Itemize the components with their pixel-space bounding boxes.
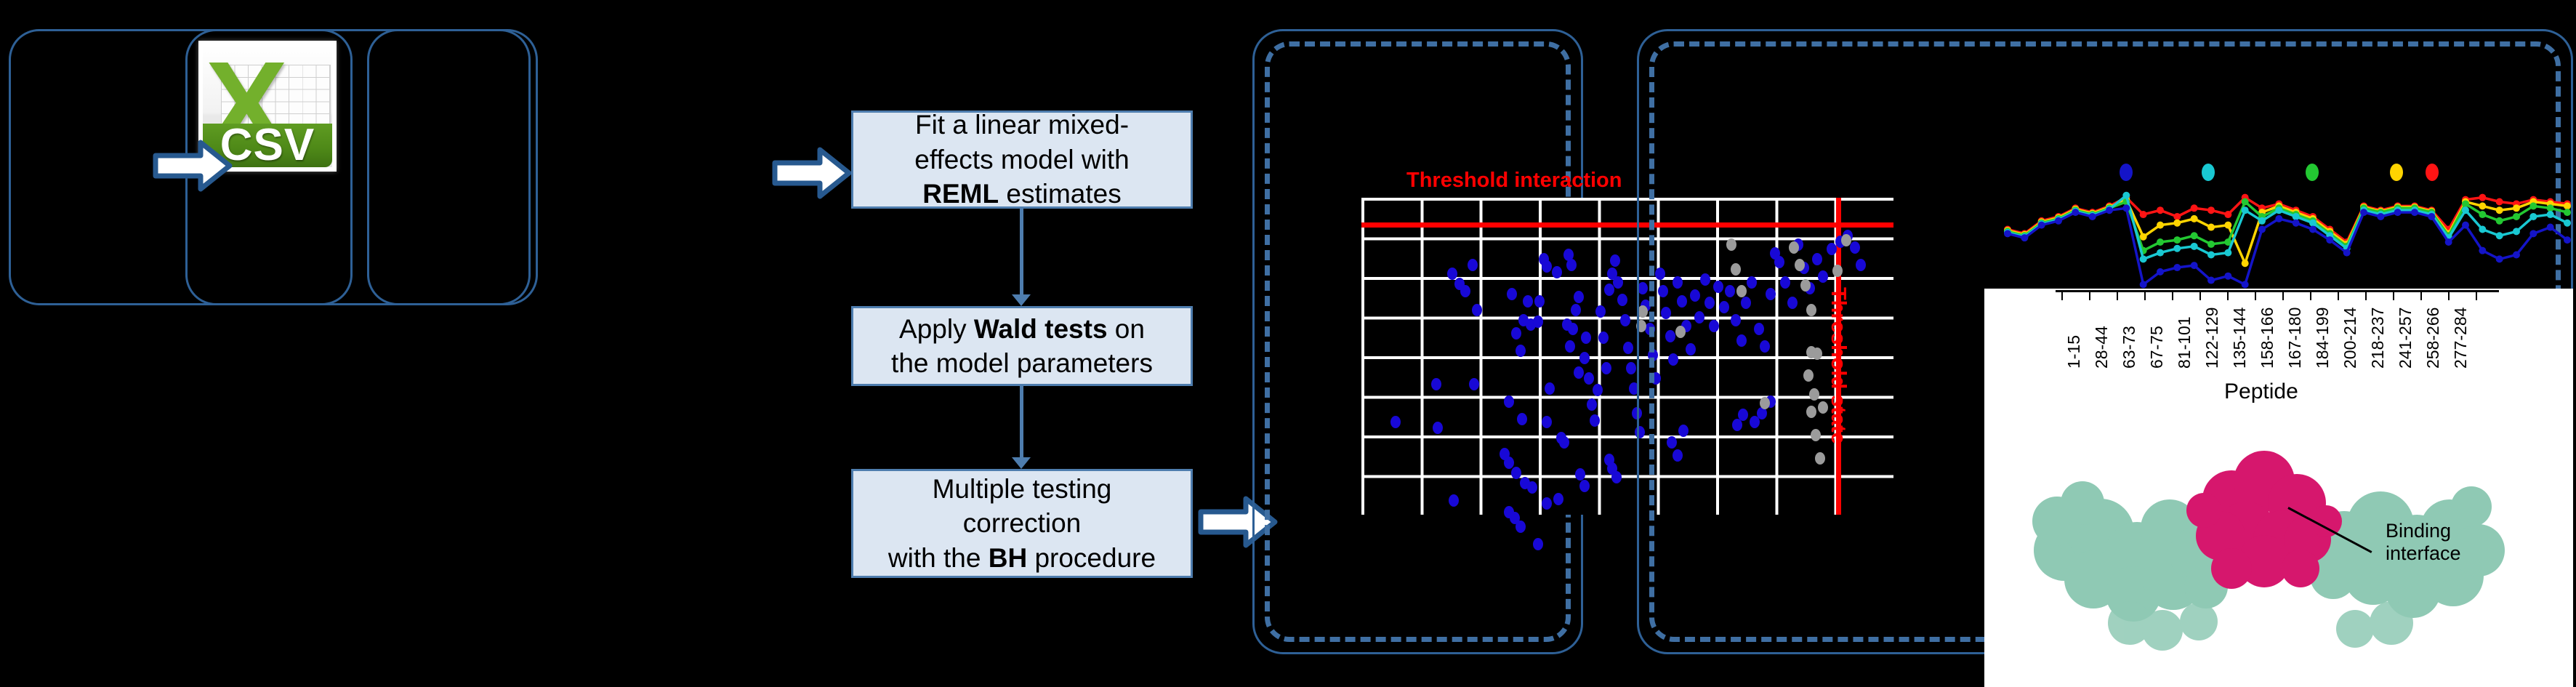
chart-point xyxy=(2224,249,2231,257)
chart-point xyxy=(2191,262,2198,269)
peptide-tick-label: 63-73 xyxy=(2120,326,2139,369)
chart-point xyxy=(2173,264,2181,271)
chart-point xyxy=(2309,225,2317,233)
excel-x-glyph: X xyxy=(206,47,265,123)
chart-point xyxy=(2275,215,2282,222)
chart-point xyxy=(2072,209,2079,216)
chart-point xyxy=(2496,232,2503,239)
chart-point xyxy=(2479,202,2486,209)
y-axis-tick-label: 0.0 xyxy=(2012,289,2038,292)
chart-point xyxy=(2140,211,2147,218)
chart-point xyxy=(2191,243,2198,250)
peptide-tick-label: 135-144 xyxy=(2230,308,2250,369)
chart-point xyxy=(2411,209,2418,216)
chart-point xyxy=(2242,260,2249,267)
arrow-right-1 xyxy=(153,138,233,193)
chart-point xyxy=(2479,247,2486,254)
chart-point xyxy=(2140,233,2147,241)
chart-point xyxy=(2479,211,2486,218)
chart-point xyxy=(2309,220,2317,227)
multiple-testing-box: Multiple testing correction with the BH … xyxy=(851,469,1193,578)
panel-statistics xyxy=(367,29,538,305)
chart-point xyxy=(2242,281,2249,288)
chart-point xyxy=(2513,252,2520,259)
chart-point xyxy=(2242,206,2249,214)
chart-point xyxy=(2207,206,2215,214)
chart-point xyxy=(2343,249,2351,257)
chart-point xyxy=(2564,236,2571,244)
chart-point xyxy=(2479,194,2486,201)
structure-figure: 0.0 1-1528-4463-7367-7581-101122-129135-… xyxy=(1984,289,2573,687)
fit-model-box-text: Fit a linear mixed- effects model with R… xyxy=(914,108,1129,211)
chart-point xyxy=(2564,202,2571,209)
chart-point xyxy=(2122,204,2130,212)
connector-line-1 xyxy=(1020,209,1023,294)
chart-point xyxy=(2224,211,2231,218)
chart-point xyxy=(2564,220,2571,227)
chart-point xyxy=(2326,236,2333,244)
peptide-tick-label: 167-180 xyxy=(2285,308,2305,369)
chart-point xyxy=(2055,217,2062,225)
connector-arrowhead-2 xyxy=(1012,457,1031,469)
multiple-testing-box-text: Multiple testing correction with the BH … xyxy=(888,472,1156,575)
chart-point xyxy=(2191,215,2198,222)
chart-point xyxy=(2529,230,2537,237)
chart-point xyxy=(2462,206,2469,214)
peptide-tick-label: 1-15 xyxy=(2064,335,2084,369)
chart-point xyxy=(2529,213,2537,220)
chart-point xyxy=(2242,198,2249,206)
peptide-tick-label: 158-166 xyxy=(2258,308,2277,369)
chart-point xyxy=(2157,238,2164,246)
chart-point xyxy=(2122,192,2130,199)
chart-point xyxy=(2547,204,2554,212)
peptide-tick-label: 241-257 xyxy=(2396,308,2415,369)
chart-point xyxy=(2173,213,2181,220)
chart-point xyxy=(2207,277,2215,284)
legend-dot-series-4 xyxy=(2390,164,2403,181)
chart-point xyxy=(2394,209,2402,216)
chart-point xyxy=(2224,222,2231,229)
arrow-right-2 xyxy=(772,145,852,201)
peptide-tick-label: 200-214 xyxy=(2340,308,2360,369)
peptide-axis-title: Peptide xyxy=(2224,379,2298,404)
chart-point xyxy=(2428,213,2435,220)
chart-point xyxy=(2207,252,2215,259)
chart-point xyxy=(2462,200,2469,207)
legend-dot-series-5 xyxy=(2426,164,2439,181)
chart-point xyxy=(2173,220,2181,227)
peptide-tick-label: 218-237 xyxy=(2368,308,2388,369)
legend-dot-series-1 xyxy=(2120,164,2133,181)
chart-point xyxy=(2529,202,2537,209)
chart-point xyxy=(2191,204,2198,212)
connector-arrowhead-1 xyxy=(1012,294,1031,306)
peptide-tick-label: 67-75 xyxy=(2147,326,2167,369)
chart-point xyxy=(2513,228,2520,235)
binding-interface-label: Binding interface xyxy=(2386,520,2461,565)
chart-point xyxy=(2479,225,2486,233)
peptide-tick-label: 81-101 xyxy=(2175,316,2194,369)
chart-point xyxy=(2173,236,2181,244)
wald-tests-box-text: Apply Wald tests on the model parameters xyxy=(891,312,1153,381)
chart-point xyxy=(2496,217,2503,225)
chart-point xyxy=(2513,213,2520,220)
csv-label-text: CSV xyxy=(220,119,315,167)
chart-point xyxy=(2089,213,2096,220)
chart-point xyxy=(2258,225,2266,233)
chart-point xyxy=(2496,198,2503,206)
fit-model-box: Fit a linear mixed- effects model with R… xyxy=(851,111,1193,209)
chart-point xyxy=(2564,209,2571,216)
chart-point xyxy=(2021,234,2028,241)
chart-point xyxy=(2496,255,2503,262)
chart-point xyxy=(2293,213,2300,220)
peptide-tick-label: 28-44 xyxy=(2092,326,2112,369)
chart-point xyxy=(2157,249,2164,257)
chart-point xyxy=(2157,206,2164,214)
chart-point xyxy=(2191,232,2198,239)
chart-point xyxy=(2140,281,2147,288)
peptide-line-chart xyxy=(2000,182,2575,298)
chart-point xyxy=(2377,213,2384,220)
chart-point xyxy=(2106,206,2113,214)
peptide-tick-label: 184-199 xyxy=(2313,308,2333,369)
peptide-tick-label: 122-129 xyxy=(2202,308,2222,369)
connector-line-2 xyxy=(1020,386,1023,457)
chart-point xyxy=(2207,224,2215,231)
wald-tests-box: Apply Wald tests on the model parameters xyxy=(851,306,1193,386)
chart-point xyxy=(2157,222,2164,229)
peptide-tick-label: 258-266 xyxy=(2423,308,2443,369)
legend-dot-series-2 xyxy=(2202,164,2215,181)
chart-point xyxy=(2496,206,2503,214)
peptide-axis xyxy=(2056,290,2499,305)
peptide-axis-line xyxy=(2056,290,2499,292)
chart-point xyxy=(2360,209,2367,216)
chart-point xyxy=(2547,224,2554,231)
chart-point xyxy=(2462,222,2469,229)
chart-point xyxy=(2207,241,2215,248)
chart-point xyxy=(2038,222,2045,229)
chart-point xyxy=(2140,255,2147,262)
peptide-tick-label: 277-284 xyxy=(2451,308,2471,369)
chart-point xyxy=(2513,204,2520,212)
chart-point xyxy=(2258,217,2266,225)
chart-point xyxy=(2293,220,2300,227)
chart-point xyxy=(2004,230,2011,237)
chart-point xyxy=(2224,273,2231,280)
threshold-interaction-label: Threshold interaction xyxy=(1406,169,1622,193)
chart-point xyxy=(2275,206,2282,214)
chart-point xyxy=(2445,238,2452,246)
chart-point xyxy=(2547,211,2554,218)
chart-point xyxy=(2157,268,2164,276)
legend-dot-series-3 xyxy=(2306,164,2319,181)
chart-point xyxy=(2173,245,2181,252)
